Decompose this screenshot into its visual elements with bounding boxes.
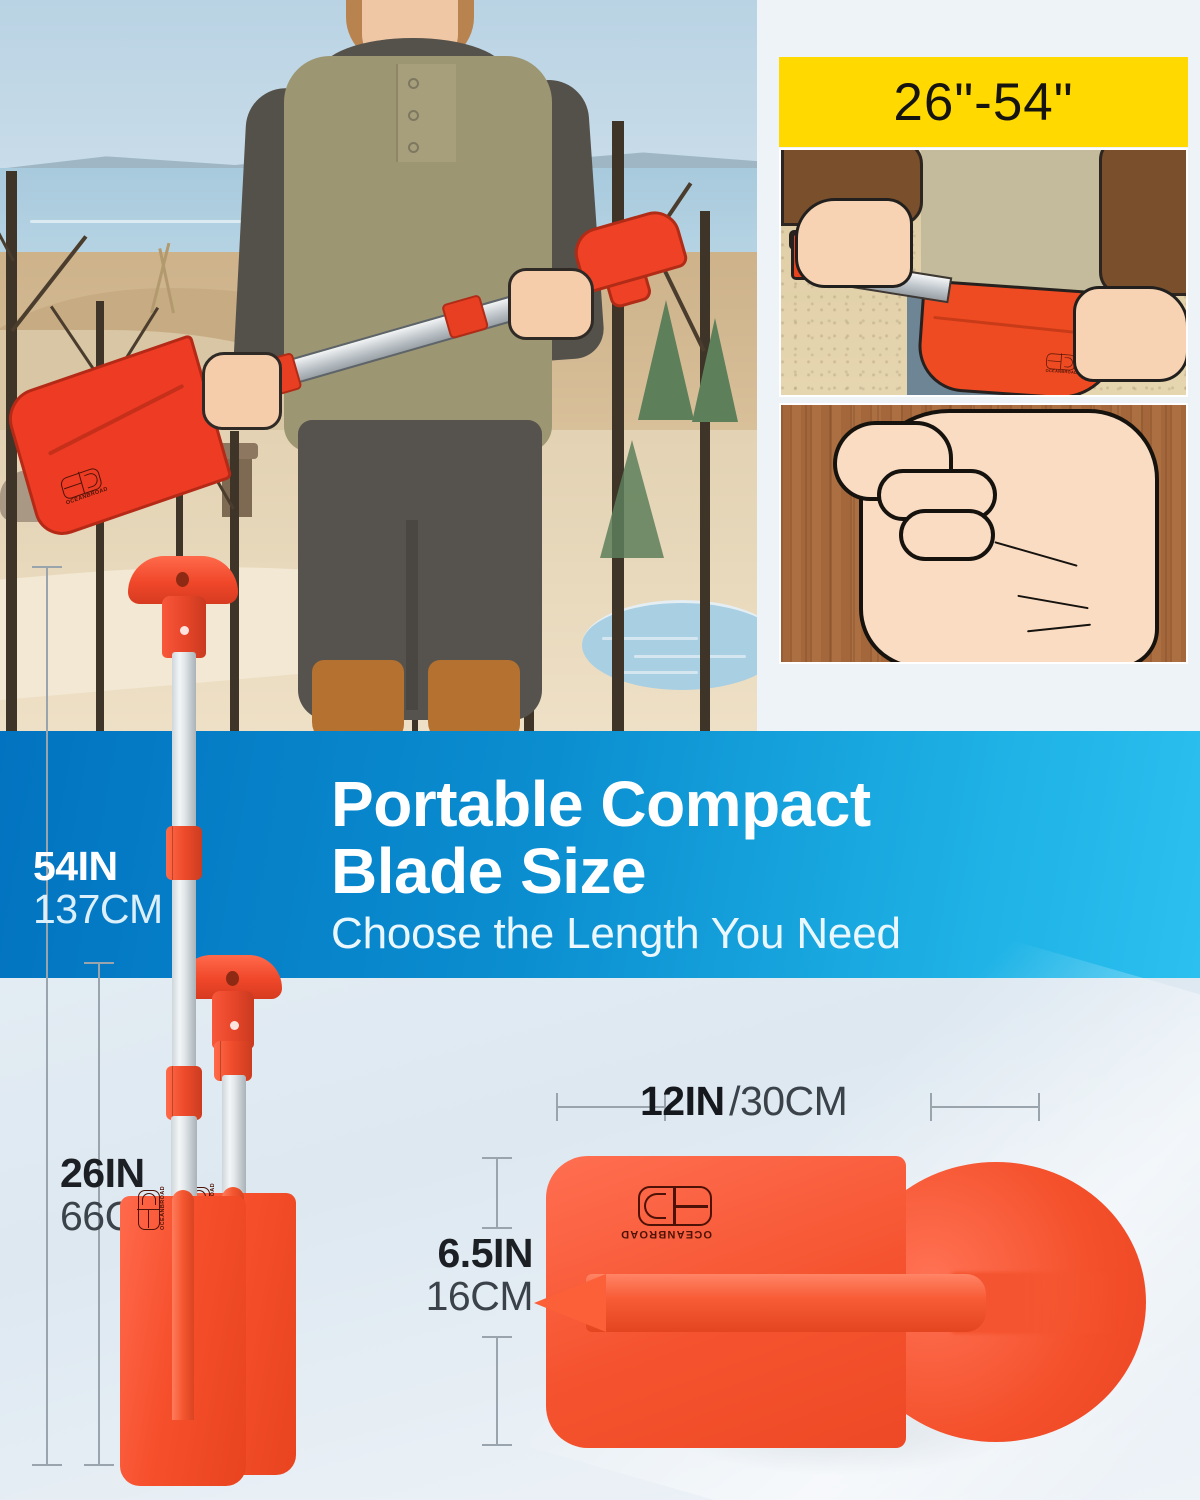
left-hand-closeup — [795, 198, 913, 288]
brand-logo-on-blade: OCEANBROAD — [638, 1186, 712, 1240]
shirt-button — [408, 142, 419, 153]
right-boot — [428, 660, 520, 731]
brand-wordmark: OCEANBROAD — [160, 1190, 166, 1230]
size-range-badge: 26"-54" — [779, 57, 1188, 147]
paddle-shaft — [222, 1075, 246, 1205]
panel-hand-gripping-handle — [779, 403, 1188, 664]
brand-monogram — [1046, 353, 1076, 371]
dimension-12in-cm: /30CM — [729, 1078, 847, 1124]
lifestyle-scene-main: OCEANBROAD — [0, 0, 757, 731]
dimension-line-54in — [46, 566, 48, 1466]
shaft-lock-collar — [166, 1066, 202, 1120]
dimension-6point5in-cm: 16CM — [388, 1275, 533, 1318]
infographic-page: OCEANBROAD 26"-54" OCEANBROAD — [0, 0, 1200, 1500]
left-boot — [312, 660, 404, 731]
dimension-line-6point5in-bottom — [496, 1336, 498, 1446]
dimension-line-12in-right — [930, 1106, 1040, 1108]
paddle-blade: OCEANBROAD — [120, 1196, 246, 1486]
blade-detail-render: OCEANBROAD — [546, 1156, 1106, 1448]
shirt-button — [408, 110, 419, 121]
blade-spine-tip — [534, 1274, 606, 1332]
dimension-label-54in: 54IN 137CM — [33, 845, 163, 930]
dimension-6point5in-inches: 6.5IN — [388, 1232, 533, 1275]
dimension-label-12in: 12IN /30CM — [640, 1078, 847, 1125]
dimension-label-6point5in: 6.5IN 16CM — [388, 1232, 533, 1317]
dimension-54in-cm: 137CM — [33, 888, 163, 931]
t-handle-stem — [162, 596, 206, 658]
brand-logo-on-blade: OCEANBROAD — [59, 466, 105, 507]
shaft-lock-collar — [441, 294, 489, 340]
shirt-placket — [396, 64, 456, 162]
banner-title-line1: Portable Compact — [331, 771, 1151, 838]
brand-wordmark: OCEANBROAD — [638, 1228, 712, 1240]
right-arm-closeup — [1099, 148, 1188, 296]
tree-trunk — [700, 211, 710, 731]
brand-mark: OCEANBROAD — [138, 1190, 166, 1230]
person-left-hand — [202, 352, 282, 430]
brand-monogram — [638, 1186, 712, 1226]
brand-mark: OCEANBROAD — [638, 1186, 712, 1240]
dimension-54in-inches: 54IN — [33, 845, 163, 888]
right-hand-closeup — [1073, 286, 1188, 382]
panel-collapsed-paddle-in-hands: OCEANBROAD — [779, 148, 1188, 397]
leg-separation — [406, 520, 418, 710]
person-right-hand — [508, 268, 594, 340]
shirt-button — [408, 78, 419, 89]
brand-logo-on-blade: OCEANBROAD — [1045, 353, 1075, 376]
shaft-lock-collar — [166, 826, 202, 880]
dimension-12in-inches: 12IN — [640, 1078, 725, 1124]
finger — [899, 509, 995, 561]
paddle-extended-54in: OCEANBROAD — [150, 556, 216, 1476]
size-range-label: 26"-54" — [893, 72, 1073, 133]
blade-spine — [586, 1274, 986, 1332]
blade-spine — [172, 1190, 194, 1420]
brand-monogram — [138, 1190, 160, 1230]
brand-logo-on-blade: OCEANBROAD — [138, 1190, 167, 1230]
dimension-line-6point5in-top — [496, 1157, 498, 1229]
